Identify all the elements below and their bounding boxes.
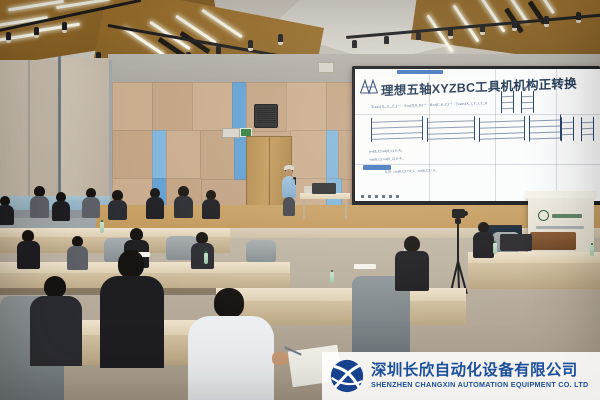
audience-member — [178, 186, 189, 197]
track-spotlight — [544, 16, 549, 25]
foreground-attendee — [44, 276, 66, 298]
lecture-hall-photo: 理想五轴XYZBC工具机机构正转换 Trans(X₀,Y₀,Z₀)⁻¹ · Ro… — [0, 0, 600, 400]
audience-member — [478, 222, 489, 233]
window-blind[interactable] — [61, 58, 109, 200]
slide-matrix — [371, 116, 423, 142]
audience-member — [150, 188, 160, 198]
writing-hand — [272, 352, 288, 365]
track-spotlight — [416, 32, 421, 41]
slide-equation-line: cos(θ_C) sin(θ_C) 0 -X₀ — [369, 148, 402, 153]
water-bottle — [590, 245, 594, 256]
stage-equipment-small — [304, 186, 312, 193]
watermark-company-cn: 深圳长欣自动化设备有限公司 — [371, 363, 588, 379]
tripod-column — [457, 223, 459, 263]
audience-member — [72, 236, 83, 247]
water-bottle — [204, 253, 208, 264]
backpack — [500, 234, 532, 251]
wall-panel — [152, 82, 194, 132]
wall-panel — [112, 130, 154, 180]
track-spotlight — [384, 36, 389, 45]
track-spotlight — [248, 40, 253, 49]
presenter — [281, 166, 297, 216]
audience-member — [34, 186, 45, 197]
audience-member — [56, 192, 66, 202]
slide-vector — [581, 117, 594, 141]
slide-vector — [501, 91, 514, 113]
track-spotlight — [278, 34, 283, 43]
wall-panel — [286, 82, 328, 132]
led-video-wall[interactable]: 理想五轴XYZBC工具机机构正转换 Trans(X₀,Y₀,Z₀)⁻¹ · Ro… — [352, 66, 600, 206]
slide-matrix — [427, 116, 475, 142]
water-bottle — [330, 272, 334, 283]
water-bottle — [493, 243, 497, 254]
podium-top — [525, 191, 597, 198]
handbag — [530, 232, 576, 250]
camera-lens-icon — [463, 211, 468, 216]
stage-equipment-box — [312, 183, 336, 194]
more-icon[interactable] — [396, 195, 399, 198]
slideshow-icon[interactable] — [361, 195, 364, 198]
window-mullion — [28, 58, 30, 210]
wall-speaker — [254, 104, 278, 128]
pointer-icon[interactable] — [375, 195, 378, 198]
presenter-face — [285, 169, 293, 176]
track-spotlight — [352, 40, 357, 49]
track-spotlight — [62, 22, 67, 31]
audience-member — [130, 228, 143, 241]
foreground-attendee — [404, 236, 420, 252]
track-spotlight — [480, 24, 485, 33]
audience-member — [112, 190, 123, 201]
pen-icon[interactable] — [368, 195, 371, 198]
presentation-toolbar[interactable] — [361, 195, 399, 198]
water-bottle — [100, 222, 104, 233]
audience-member — [86, 188, 96, 198]
slide-tag — [363, 165, 391, 170]
operator-desk-front — [468, 263, 600, 289]
zoom-icon[interactable] — [389, 195, 392, 198]
slide-equation-line: -sin(θ_C) cos(θ_C) 0 -Y₀ — [369, 156, 403, 161]
slide-logo-icon — [359, 78, 379, 95]
company-watermark: 深圳长欣自动化设备有限公司 SHENZHEN CHANGXIN AUTOMATI… — [322, 352, 600, 400]
audience-member — [196, 232, 208, 244]
wall-panel — [112, 82, 154, 132]
track-spotlight — [448, 28, 453, 37]
audience-member — [22, 230, 34, 242]
ceiling-access-panel — [318, 62, 334, 73]
paper-notes — [354, 264, 376, 269]
podium-subtitle — [536, 226, 584, 229]
menu-icon[interactable] — [382, 195, 385, 198]
slide-matrix — [479, 116, 525, 142]
table-leg — [345, 199, 347, 219]
foreground-attendee — [118, 250, 144, 278]
slide-vector — [521, 91, 534, 113]
track-spotlight — [576, 12, 581, 21]
watermark-company-en: SHENZHEN CHANGXIN AUTOMATION EQUIPMENT C… — [371, 381, 588, 390]
podium-logo-text — [552, 214, 582, 218]
track-spotlight — [512, 20, 517, 29]
slide-vector — [561, 117, 574, 141]
presenter-arm — [291, 179, 295, 188]
table-leg — [303, 199, 305, 219]
track-spotlight — [34, 27, 39, 36]
slide-badge — [397, 70, 443, 74]
audience-chair — [246, 240, 276, 262]
wall-panel — [166, 130, 202, 180]
wall-panel — [192, 82, 234, 132]
presenter-trousers — [283, 197, 295, 216]
foreground-note-taker — [214, 288, 244, 318]
slide-title: 理想五轴XYZBC工具机机构正转换 — [381, 72, 600, 99]
watermark-text: 深圳长欣自动化设备有限公司 SHENZHEN CHANGXIN AUTOMATI… — [371, 363, 588, 390]
slide-matrix — [529, 114, 561, 141]
changxin-circular-logo-icon — [330, 359, 364, 393]
presentation-slide[interactable]: 理想五轴XYZBC工具机机构正转换 Trans(X₀,Y₀,Z₀)⁻¹ · Ro… — [355, 69, 600, 201]
wall-control-box — [222, 128, 240, 138]
audience-member — [206, 190, 216, 200]
track-spotlight — [6, 32, 11, 41]
podium-logo — [538, 210, 582, 221]
podium-logo-icon — [538, 210, 549, 221]
audience-member — [0, 196, 10, 206]
